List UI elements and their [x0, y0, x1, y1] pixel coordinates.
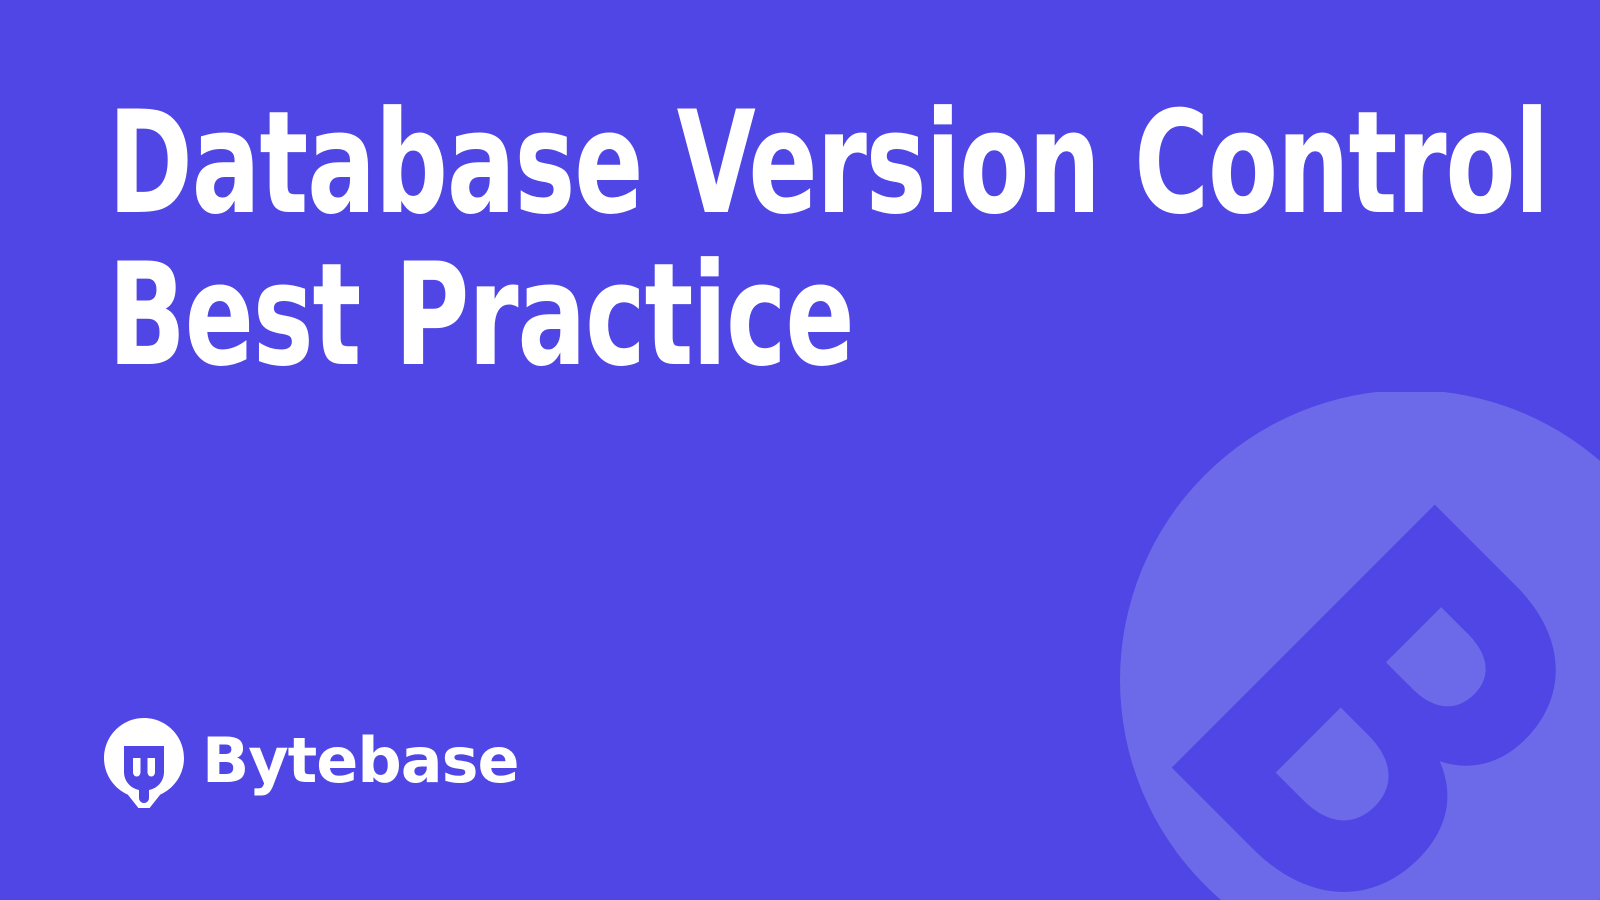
bytebase-logo-mark-icon — [104, 718, 184, 808]
title-line-2: Best Practice — [108, 240, 1180, 392]
bytebase-wordmark: Bytebase — [202, 730, 519, 792]
title-line-1: Database Version Control — [108, 88, 1180, 240]
bytebase-logo-lockup: Bytebase — [104, 718, 519, 808]
page-title: Database Version Control Best Practice — [108, 88, 1448, 392]
social-card-canvas: Database Version Control Best Practice B… — [0, 0, 1600, 900]
bytebase-b-watermark-icon — [1110, 392, 1600, 900]
